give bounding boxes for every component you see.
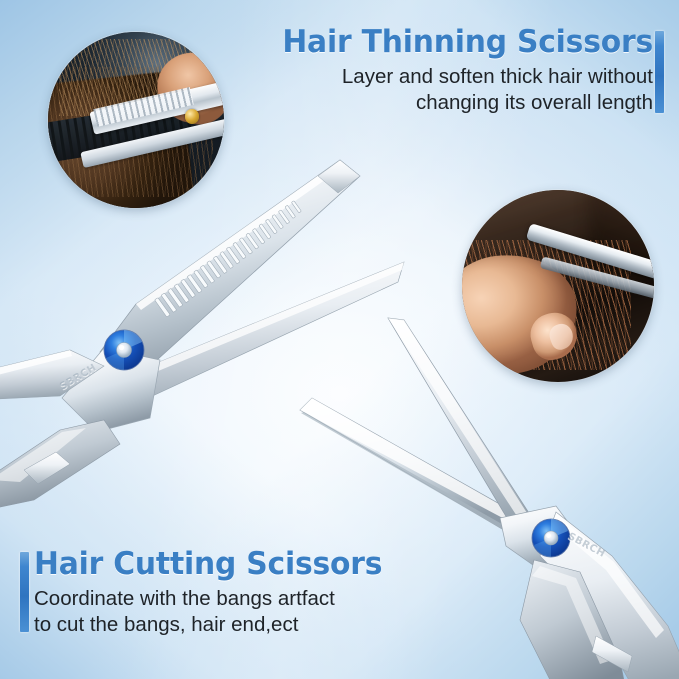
top-text-block: Hair Thinning Scissors Layer and soften … <box>243 26 653 116</box>
bottom-text-block: Hair Cutting Scissors Coordinate with th… <box>34 548 454 638</box>
accent-bar-bottom <box>20 552 29 632</box>
photo-thinning-pivot <box>185 109 199 123</box>
product-infographic: SBRCH SBRCH Hair Thinning Scissors Layer… <box>0 0 679 679</box>
photo-inset-thinning <box>48 32 224 208</box>
top-subtext: Layer and soften thick hair without chan… <box>243 64 653 116</box>
photo-inset-cutting <box>462 190 654 382</box>
top-heading: Hair Thinning Scissors <box>259 26 653 59</box>
accent-bar-top <box>655 31 664 113</box>
bottom-subtext: Coordinate with the bangs artfact to cut… <box>34 586 454 638</box>
bottom-heading: Hair Cutting Scissors <box>34 548 437 581</box>
